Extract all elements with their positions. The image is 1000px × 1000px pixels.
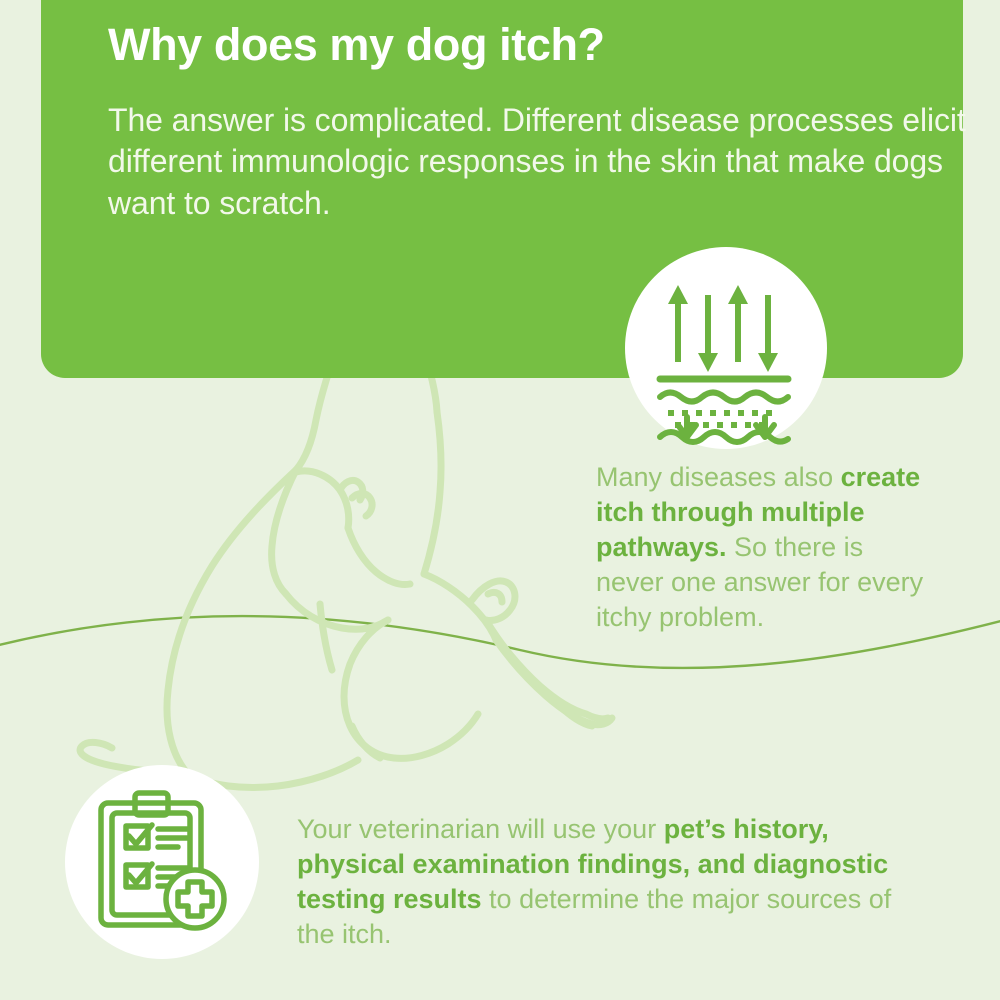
header-subtitle: The answer is complicated. Different dis… bbox=[108, 100, 978, 224]
plain-text: Your veterinarian will use your bbox=[297, 814, 664, 844]
section-text-skin-pathways: Many diseases also create itch through m… bbox=[596, 460, 926, 635]
plain-text: Many diseases also bbox=[596, 462, 841, 492]
section-text-vet-diagnostics: Your veterinarian will use your pet’s hi… bbox=[297, 812, 917, 952]
skin-icon-badge bbox=[625, 247, 827, 449]
page-title: Why does my dog itch? bbox=[108, 21, 908, 69]
clipboard-checklist-medical-icon bbox=[65, 765, 259, 959]
clipboard-icon-badge bbox=[65, 765, 259, 959]
infographic-canvas: Why does my dog itch? The answer is comp… bbox=[0, 0, 1000, 1000]
skin-layers-arrows-icon bbox=[625, 247, 827, 449]
